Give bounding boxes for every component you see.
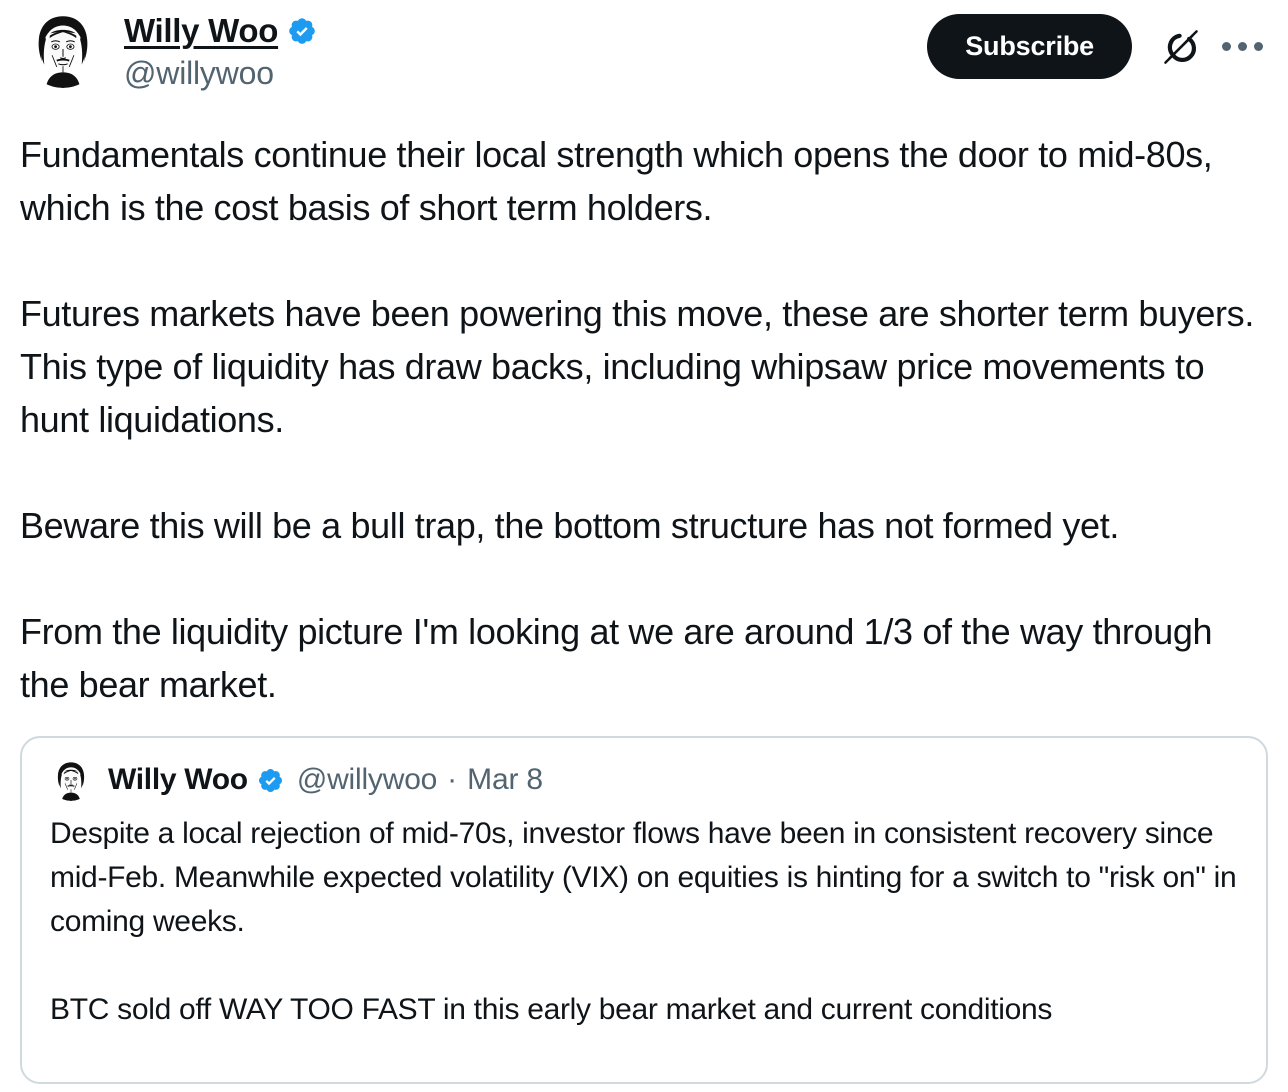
quoted-verified-badge-icon[interactable] xyxy=(257,767,284,794)
quoted-tweet-header: Willy Woo @willywoo · Mar 8 xyxy=(22,738,1266,800)
quoted-handle: @willywoo xyxy=(297,761,437,799)
tweet-header: Willy Woo @willywoo Subscribe xyxy=(0,0,1288,110)
quoted-avatar[interactable] xyxy=(50,759,92,801)
more-dots xyxy=(1222,42,1263,51)
quoted-paragraph-2: BTC sold off WAY TOO FAST in this early … xyxy=(50,988,1246,1032)
more-options-icon[interactable] xyxy=(1216,16,1268,78)
tweet-paragraph-2: Futures markets have been powering this … xyxy=(20,287,1268,446)
tweet-paragraph-3: Beware this will be a bull trap, the bot… xyxy=(20,499,1268,552)
quoted-tweet-card[interactable]: Willy Woo @willywoo · Mar 8 Despite a lo… xyxy=(20,736,1268,1084)
header-actions: Subscribe xyxy=(927,14,1268,79)
quoted-date[interactable]: Mar 8 xyxy=(467,761,543,799)
tweet-paragraph-1: Fundamentals continue their local streng… xyxy=(20,128,1268,234)
quoted-separator: · xyxy=(447,761,457,799)
handle[interactable]: @willywoo xyxy=(124,53,317,93)
quoted-paragraph-1: Despite a local rejection of mid-70s, in… xyxy=(50,812,1246,944)
subscribe-button[interactable]: Subscribe xyxy=(927,14,1132,79)
grok-icon[interactable] xyxy=(1150,16,1212,78)
identity-block: Willy Woo @willywoo xyxy=(124,8,317,93)
verified-badge-icon[interactable] xyxy=(287,16,317,46)
tweet-text-body: Fundamentals continue their local streng… xyxy=(20,128,1268,711)
tweet-page: Willy Woo @willywoo Subscribe xyxy=(0,0,1288,1092)
name-row: Willy Woo xyxy=(124,10,317,52)
avatar[interactable] xyxy=(24,10,102,88)
tweet-paragraph-4: From the liquidity picture I'm looking a… xyxy=(20,605,1268,711)
display-name[interactable]: Willy Woo xyxy=(124,12,278,50)
quoted-display-name[interactable]: Willy Woo xyxy=(108,761,248,799)
quoted-tweet-body: Despite a local rejection of mid-70s, in… xyxy=(22,800,1266,1032)
